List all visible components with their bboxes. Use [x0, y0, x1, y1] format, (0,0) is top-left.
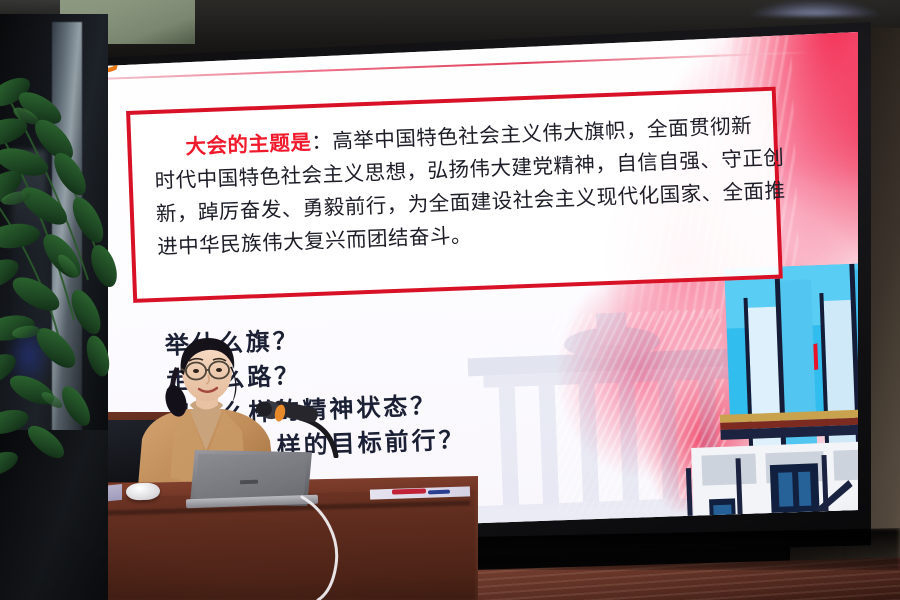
- microphone-icon: [236, 388, 356, 458]
- laptop-brand-logo: [240, 480, 258, 485]
- city-skyline-graphic: [654, 262, 858, 545]
- ceiling-light-glow: [750, 0, 880, 16]
- highlight-text-box: 大会的主题是：高举中国特色社会主义伟大旗帜，全面贯彻新 时代中国特色社会主义思想…: [126, 87, 783, 303]
- blue-document-marker: [428, 490, 450, 495]
- lecture-hall-scene: 一、 全面建设社会主义现代化国家的总基调 大会的主题是：高举中国特色社会主义伟大…: [0, 0, 900, 600]
- potted-ficus-plant: [0, 70, 182, 510]
- laptop-lid-back: [195, 454, 307, 500]
- highlight-colon: ：: [311, 130, 333, 154]
- highlight-accent-label: 大会的主题是: [185, 131, 312, 159]
